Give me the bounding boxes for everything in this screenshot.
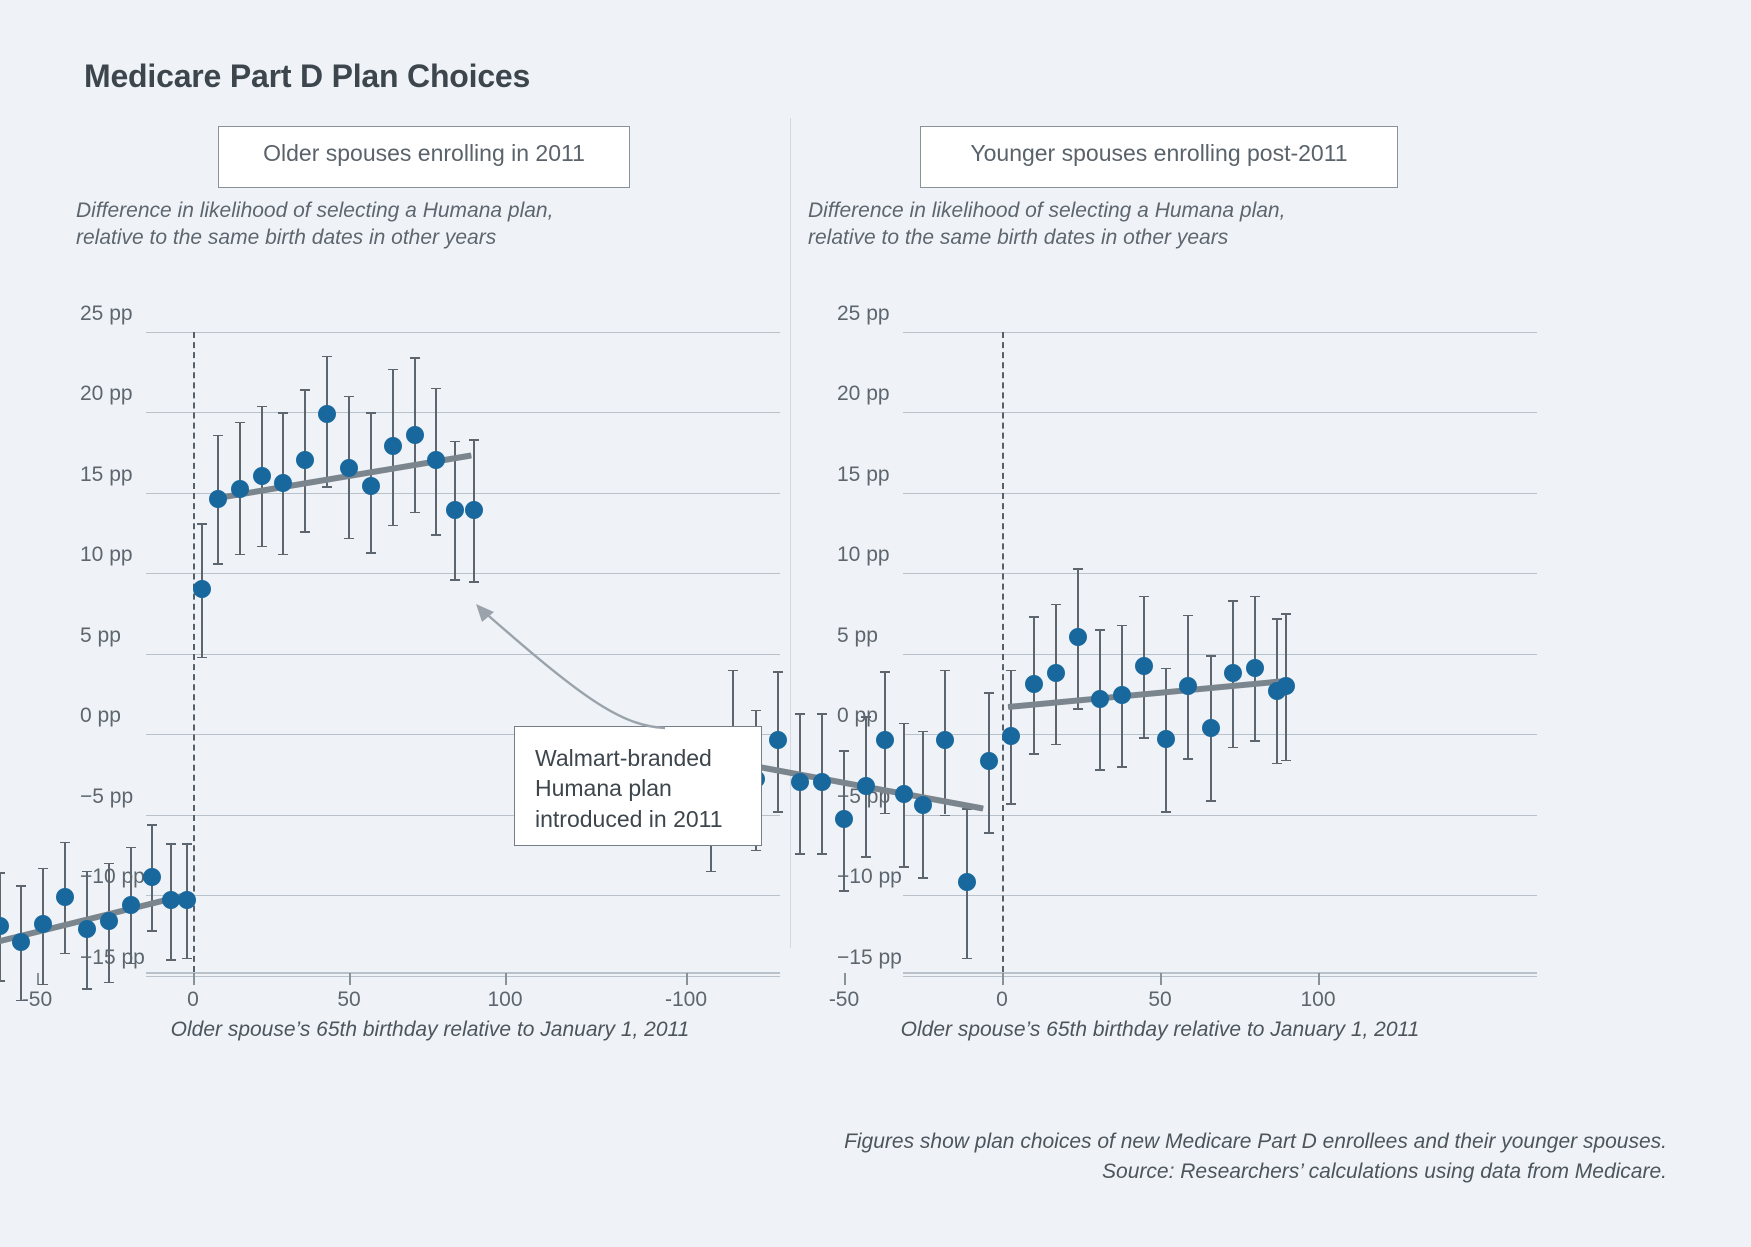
error-bar-cap (899, 723, 909, 725)
error-bar-cap (1161, 811, 1171, 813)
error-bar-cap (1029, 753, 1039, 755)
error-bar-cap (1117, 625, 1127, 627)
error-bar-cap (1073, 568, 1083, 570)
gridline (903, 815, 1537, 816)
error-bar-cap (1183, 758, 1193, 760)
y-axis-tick-label: 5 pp (837, 624, 878, 648)
y-axis-tick-label: 25 pp (837, 302, 890, 326)
error-bar-cap (1183, 615, 1193, 617)
fit-line (1008, 678, 1283, 710)
error-bar-cap (817, 853, 827, 855)
data-point (835, 810, 853, 828)
error-bar-cap (880, 813, 890, 815)
data-point (980, 752, 998, 770)
y-axis-tick-label: −10 pp (837, 865, 902, 889)
data-point (791, 773, 809, 791)
data-point (1246, 659, 1264, 677)
gridline (903, 654, 1537, 655)
data-point (1091, 690, 1109, 708)
error-bar-cap (795, 713, 805, 715)
data-point (1025, 675, 1043, 693)
gridline (903, 895, 1537, 896)
error-bar-cap (1206, 655, 1216, 657)
error-bar-cap (1250, 740, 1260, 742)
panel-xlabel-younger: Older spouse’s 65th birthday relative to… (790, 1018, 1530, 1042)
error-bar-cap (962, 958, 972, 960)
error-bar-cap (839, 890, 849, 892)
error-bar-cap (1095, 769, 1105, 771)
error-bar-cap (1139, 596, 1149, 598)
error-bar-cap (1228, 600, 1238, 602)
x-axis-tick-mark (1318, 973, 1320, 985)
x-axis-tick-label: -100 (641, 988, 731, 1012)
error-bar-cap (984, 832, 994, 834)
error-bar-cap (706, 871, 716, 873)
error-bar-cap (1117, 766, 1127, 768)
error-bar-cap (1073, 708, 1083, 710)
error-bar-cap (1272, 763, 1282, 765)
error-bar-cap (899, 866, 909, 868)
error-bar-cap (773, 811, 783, 813)
error-bar-cap (1051, 604, 1061, 606)
data-point (936, 731, 954, 749)
data-point (1069, 628, 1087, 646)
x-axis-tick-mark (686, 973, 688, 985)
data-point (857, 777, 875, 795)
data-point (1047, 664, 1065, 682)
error-bar-cap (751, 710, 761, 712)
error-bar-cap (1006, 670, 1016, 672)
gridline (903, 332, 1537, 333)
gridline (903, 573, 1537, 574)
gridline (903, 976, 1537, 977)
error-bar-cap (918, 731, 928, 733)
data-point (769, 731, 787, 749)
error-bar-cap (795, 853, 805, 855)
gridline (903, 734, 1537, 735)
y-axis-tick-label: 15 pp (837, 463, 890, 487)
error-bar-cap (1281, 613, 1291, 615)
x-axis-tick-label: 100 (1273, 988, 1363, 1012)
x-axis-tick-label: 50 (1115, 988, 1205, 1012)
error-bar-cap (839, 750, 849, 752)
y-axis-tick-label: −15 pp (837, 946, 902, 970)
x-axis-tick-mark (844, 973, 846, 985)
error-bar-cap (751, 850, 761, 852)
footnote: Figures show plan choices of new Medicar… (844, 1127, 1667, 1187)
error-bar-cap (918, 877, 928, 879)
error-bar-cap (1139, 737, 1149, 739)
data-point (1277, 677, 1295, 695)
y-axis-tick-label: 10 pp (837, 543, 890, 567)
error-bar-cap (1250, 596, 1260, 598)
data-point (813, 773, 831, 791)
error-bar-cap (940, 815, 950, 817)
x-axis-tick-label: 0 (957, 988, 1047, 1012)
error-bar-cap (1095, 629, 1105, 631)
data-point (1157, 730, 1175, 748)
error-bar-cap (1206, 800, 1216, 802)
data-point (1135, 657, 1153, 675)
x-axis-tick-label: -50 (799, 988, 889, 1012)
data-point (1224, 664, 1242, 682)
data-point (914, 796, 932, 814)
data-point (1113, 686, 1131, 704)
error-bar-cap (940, 670, 950, 672)
x-axis-tick-mark (1002, 973, 1004, 985)
gridline (903, 493, 1537, 494)
plot-area-younger: 25 pp20 pp15 pp10 pp5 pp0 pp−5 pp−10 pp−… (0, 0, 1751, 1000)
error-bar-cap (1272, 618, 1282, 620)
gridline (903, 412, 1537, 413)
y-axis-tick-label: 0 pp (837, 704, 878, 728)
error-bar-cap (1161, 668, 1171, 670)
data-point (1002, 727, 1020, 745)
error-bar-cap (773, 671, 783, 673)
error-bar-cap (1029, 616, 1039, 618)
error-bar-cap (1281, 760, 1291, 762)
error-bar-cap (861, 716, 871, 718)
y-axis-tick-label: 20 pp (837, 382, 890, 406)
data-point (895, 785, 913, 803)
error-bar-cap (817, 713, 827, 715)
error-bar-cap (1006, 803, 1016, 805)
data-point (876, 731, 894, 749)
error-bar-cap (728, 670, 738, 672)
error-bar-cap (1051, 744, 1061, 746)
error-bar-cap (861, 856, 871, 858)
panel-xlabel-older: Older spouse’s 65th birthday relative to… (60, 1018, 800, 1042)
error-bar-cap (1228, 747, 1238, 749)
x-axis-line (903, 972, 1537, 974)
data-point (1202, 719, 1220, 737)
error-bar-cap (984, 692, 994, 694)
x-axis-tick-mark (1160, 973, 1162, 985)
data-point (958, 873, 976, 891)
annotation-arrow (460, 596, 670, 746)
cutoff-dashed-line (1002, 332, 1004, 973)
error-bar-cap (880, 671, 890, 673)
